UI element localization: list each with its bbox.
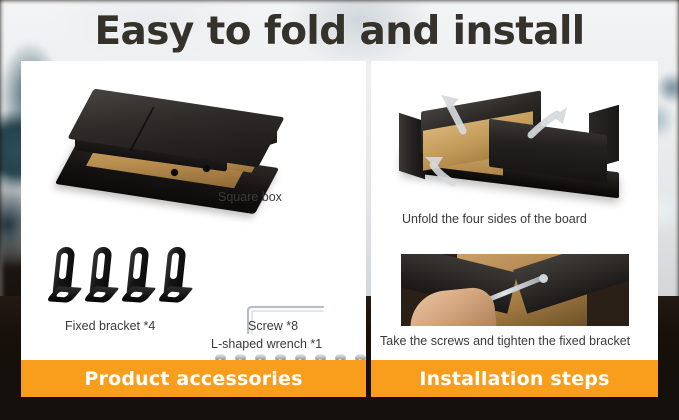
square-box-caption: Square box (218, 190, 282, 204)
unfold-arrows-group (391, 87, 639, 197)
product-accessories-body: Square box (21, 61, 366, 360)
screw-caption: Screw *8 (248, 319, 298, 333)
installation-steps-panel: Unfold the four sides of the board Take … (371, 61, 658, 397)
photo-bolt (539, 274, 548, 283)
fixed-bracket-item (125, 247, 151, 305)
square-box-hinge (203, 165, 210, 172)
infographic-page: Easy to fold and install Square box (0, 0, 679, 420)
tighten-bracket-photo (401, 254, 629, 326)
product-accessories-panel: Square box (21, 61, 366, 397)
square-box-hinge (171, 169, 178, 176)
fixed-bracket-item (162, 247, 188, 305)
product-accessories-banner: Product accessories (21, 360, 366, 397)
installation-steps-body: Unfold the four sides of the board Take … (371, 61, 658, 360)
fixed-bracket-item (51, 247, 77, 305)
installation-steps-banner: Installation steps (371, 360, 658, 397)
unfold-board-illustration (391, 87, 639, 197)
l-shaped-wrench-caption: L-shaped wrench *1 (211, 337, 322, 351)
page-title: Easy to fold and install (0, 9, 679, 54)
fixed-bracket-caption: Fixed bracket *4 (65, 319, 155, 333)
tighten-bracket-caption: Take the screws and tighten the fixed br… (380, 334, 630, 348)
unfold-board-caption: Unfold the four sides of the board (402, 212, 587, 226)
fixed-bracket-item (88, 247, 114, 305)
